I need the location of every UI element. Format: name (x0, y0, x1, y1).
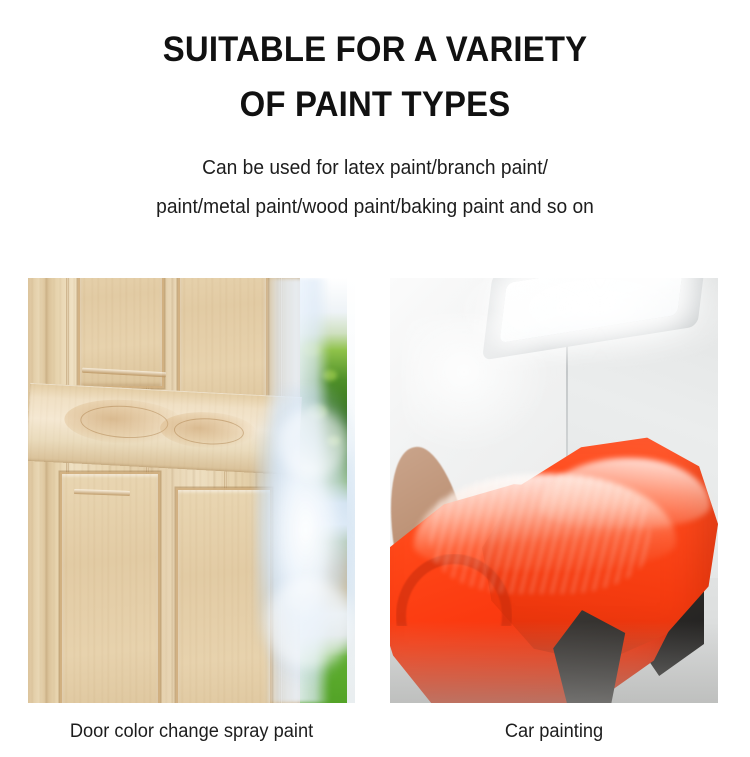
subtitle-line-1: Can be used for latex paint/branch paint… (15, 149, 735, 188)
spray-mist (278, 408, 348, 478)
spray-mist (266, 578, 352, 668)
booth-floor-shadow (390, 621, 718, 703)
caption-door-spray: Door color change spray paint (35, 721, 349, 743)
caption-row: Door color change spray paint Car painti… (0, 703, 750, 757)
heading-line-1: SUITABLE FOR A VARIETY (23, 22, 728, 77)
promo-panel: SUITABLE FOR A VARIETY OF PAINT TYPES Ca… (0, 0, 750, 757)
door-panel-lower-left (62, 474, 158, 703)
door-spray-photo (28, 278, 355, 703)
wall-light-sheen (404, 316, 554, 456)
subtitle-block: Can be used for latex paint/branch paint… (0, 149, 750, 227)
spray-mist-streaks (430, 474, 650, 594)
caption-car-painting: Car painting (397, 721, 712, 743)
photo-row (0, 278, 750, 703)
spray-booth-scene (390, 278, 718, 703)
car-painting-photo (390, 278, 718, 703)
heading-line-2: OF PAINT TYPES (23, 77, 728, 132)
door-scene (28, 278, 355, 703)
heading-block: SUITABLE FOR A VARIETY OF PAINT TYPES (0, 0, 750, 133)
subtitle-line-2: paint/metal paint/wood paint/baking pain… (15, 188, 735, 227)
